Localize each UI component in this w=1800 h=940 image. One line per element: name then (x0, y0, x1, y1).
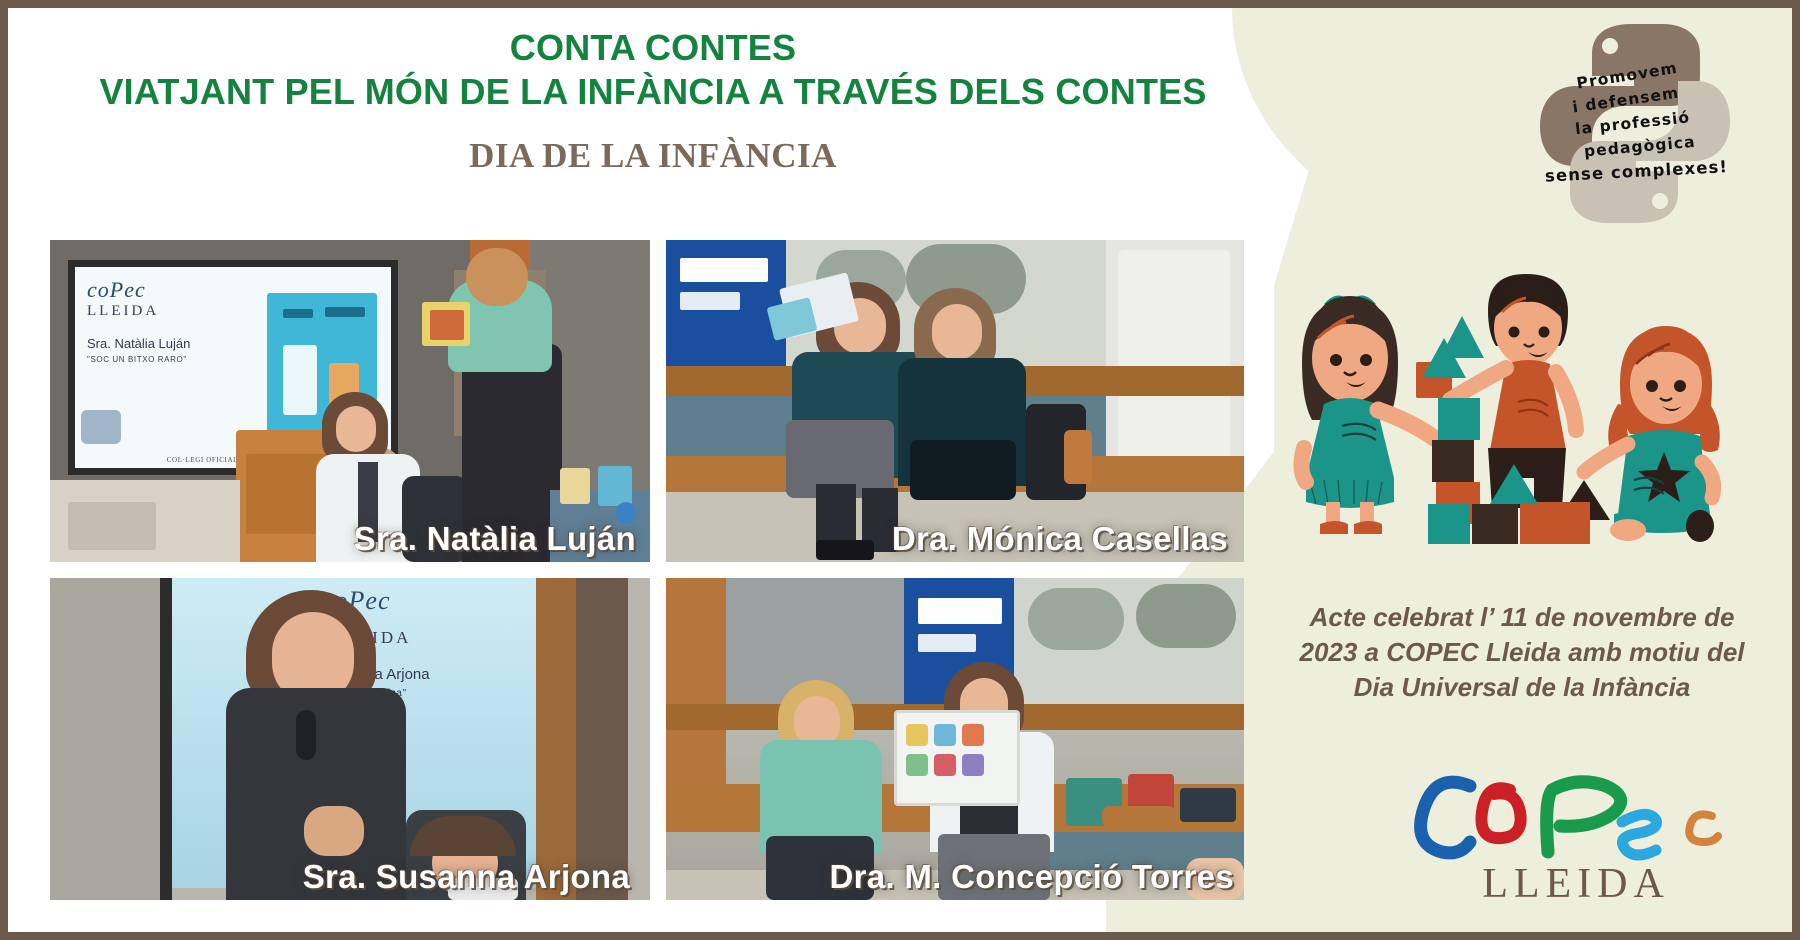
event-note-line-2: 2023 a COPEC Lleida amb motiu del (1292, 635, 1752, 670)
children-blocks-icon (1266, 252, 1766, 544)
logo-city-label: LLEIDA (1406, 860, 1746, 908)
slogan-line-5: sense complexes! (1545, 155, 1729, 188)
event-note-line-3: Dia Universal de la Infància (1292, 670, 1752, 705)
girl-left-figure (1301, 295, 1452, 534)
photo-monica-casellas[interactable]: Dra. Mónica Casellas (666, 240, 1244, 562)
event-note: Acte celebrat l’ 11 de novembre de 2023 … (1292, 600, 1752, 704)
photo-scene (666, 578, 1244, 900)
page-subtitle: DIA DE LA INFÀNCIA (8, 136, 1298, 176)
photo-scene: coPec LLEIDA Sra. Natàlia Luján "SOC UN … (50, 240, 650, 562)
children-playing-illustration (1266, 252, 1766, 544)
photo-natalia-lujan[interactable]: coPec LLEIDA Sra. Natàlia Luján "SOC UN … (50, 240, 650, 562)
photo-scene (666, 240, 1244, 562)
photo-susanna-arjona[interactable]: coPec LLEIDA Sra. Susanna Arjona "Noa és… (50, 578, 650, 900)
event-note-line-1: Acte celebrat l’ 11 de novembre de (1292, 600, 1752, 635)
copec-logo: LLEIDA (1406, 760, 1746, 910)
photo-concepcio-torres[interactable]: Dra. M. Concepció Torres (666, 578, 1244, 900)
slogan-badge: Promovem i defensem la professió pedagòg… (1520, 16, 1750, 231)
copec-wordmark-icon (1406, 760, 1746, 872)
slogan-text: Promovem i defensem la professió pedagòg… (1508, 8, 1762, 244)
title-line-1: CONTA CONTES (8, 26, 1298, 70)
poster-canvas: CONTA CONTES VIATJANT PEL MÓN DE LA INFÀ… (8, 8, 1792, 932)
title-block: CONTA CONTES VIATJANT PEL MÓN DE LA INFÀ… (8, 26, 1298, 176)
photo-scene: coPec LLEIDA Sra. Susanna Arjona "Noa és… (50, 578, 650, 900)
title-line-2: VIATJANT PEL MÓN DE LA INFÀNCIA A TRAVÉS… (8, 70, 1298, 114)
